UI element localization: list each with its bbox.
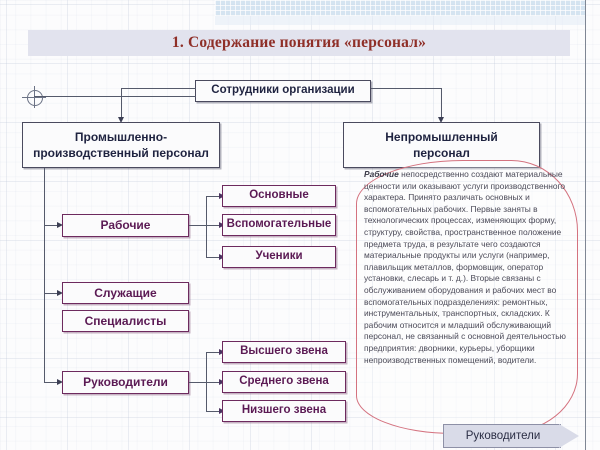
slide-canvas: 1. Содержание понятия «персонал» Сотрудн… xyxy=(0,0,600,450)
banner-label: Руководители xyxy=(443,424,563,448)
node-workers-child-1[interactable]: Вспомогательные xyxy=(222,214,336,236)
node-workers-child-0-label: Основные xyxy=(249,188,309,204)
callout-text: Рабочие непосредственно создают материал… xyxy=(364,169,576,431)
node-managers-child-2[interactable]: Низшего звена xyxy=(222,400,346,422)
node-industrial-personnel[interactable]: Промышленно- производственный персонал xyxy=(22,122,220,168)
connector-root-left-top xyxy=(121,88,196,89)
connector-root-left-down xyxy=(121,88,122,120)
node-workers-label: Рабочие xyxy=(101,217,151,233)
node-managers-child-0-label: Высшего звена xyxy=(240,344,328,360)
node-managers[interactable]: Руководители xyxy=(62,371,189,394)
connector-trunk-to-employees xyxy=(44,293,58,294)
right-margin-rule xyxy=(585,0,586,450)
node-workers-child-2-label: Ученики xyxy=(255,249,302,265)
node-managers-child-0[interactable]: Высшего звена xyxy=(222,341,346,363)
connector-trunk-to-managers xyxy=(44,382,58,383)
connector-managers-to-low xyxy=(206,411,220,412)
top-decorative-band xyxy=(215,0,585,16)
node-industrial-line1: Промышленно- xyxy=(75,129,167,145)
connector-root-right-top xyxy=(371,88,441,89)
connector-workers-bus xyxy=(206,196,207,258)
connector-workers-to-apprentice xyxy=(206,257,220,258)
node-workers-child-0[interactable]: Основные xyxy=(222,185,336,207)
anchor-crosshair-vertical xyxy=(34,86,35,108)
connector-managers-to-top xyxy=(206,352,220,353)
connector-workers-to-main xyxy=(206,196,220,197)
connector-managers-to-mid xyxy=(206,382,220,383)
node-specialists[interactable]: Специалисты xyxy=(62,310,189,332)
banner-managers[interactable]: Руководители xyxy=(443,424,579,448)
node-managers-child-2-label: Низшего звена xyxy=(242,403,326,419)
node-workers-child-1-label: Вспомогательные xyxy=(227,217,332,233)
node-employees-label: Служащие xyxy=(94,285,156,301)
node-workers-child-2[interactable]: Ученики xyxy=(222,246,336,268)
page-title: 1. Содержание понятия «персонал» xyxy=(28,31,570,55)
callout-body: непосредственно создают материальные цен… xyxy=(364,169,566,365)
connector-industrial-trunk xyxy=(44,168,45,383)
top-decorative-band-lower xyxy=(215,16,585,25)
node-managers-child-1[interactable]: Среднего звена xyxy=(222,371,346,393)
node-workers[interactable]: Рабочие xyxy=(62,214,189,237)
node-employees[interactable]: Служащие xyxy=(62,282,189,304)
node-nonindustrial-line2: персонал xyxy=(413,145,470,161)
node-industrial-line2: производственный персонал xyxy=(33,145,209,161)
node-root[interactable]: Сотрудники организации xyxy=(195,80,371,102)
node-specialists-label: Специалисты xyxy=(85,313,167,329)
connector-root-right-down xyxy=(441,88,442,120)
connector-trunk-to-workers xyxy=(44,225,58,226)
node-nonindustrial-line1: Непромышленный xyxy=(385,129,497,145)
connector-workers-to-aux xyxy=(206,225,220,226)
anchor-crosshair-icon xyxy=(27,90,43,106)
node-managers-label: Руководители xyxy=(83,374,168,390)
callout-lead: Рабочие xyxy=(364,169,399,179)
node-root-label: Сотрудники организации xyxy=(211,83,354,99)
node-managers-child-1-label: Среднего звена xyxy=(239,374,329,390)
connector-anchor-to-root xyxy=(34,96,196,97)
